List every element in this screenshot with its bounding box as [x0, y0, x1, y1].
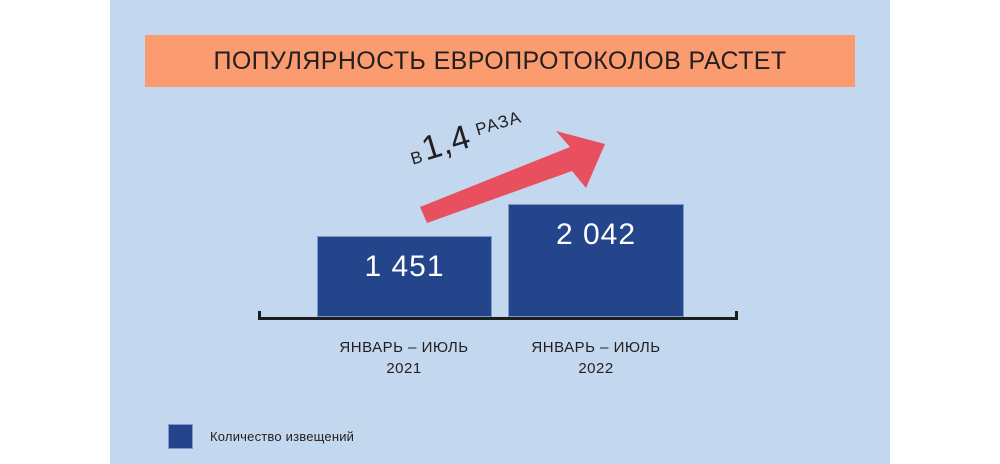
category-year-2022: 2022	[481, 358, 711, 379]
page-title: ПОПУЛЯРНОСТЬ ЕВРОПРОТОКОЛОВ РАСТЕТ	[213, 47, 786, 76]
chart-legend: Количество извещений	[168, 424, 354, 449]
bar-value-2021: 1 451	[364, 250, 444, 284]
title-banner: ПОПУЛЯРНОСТЬ ЕВРОПРОТОКОЛОВ РАСТЕТ	[145, 35, 855, 87]
bar-2021: 1 451	[317, 236, 492, 317]
annotation-suffix: РАЗА	[473, 107, 524, 140]
legend-label-notices: Количество извещений	[210, 429, 354, 444]
axis-line	[258, 317, 738, 320]
chart-axis	[258, 310, 738, 320]
category-period-2022: ЯНВАРЬ – ИЮЛЬ	[531, 339, 660, 356]
bar-value-2022: 2 042	[556, 218, 636, 252]
category-period-2021: ЯНВАРЬ – ИЮЛЬ	[339, 339, 468, 356]
legend-swatch-notices	[168, 424, 193, 449]
category-label-2022: ЯНВАРЬ – ИЮЛЬ 2022	[481, 337, 711, 379]
infographic-canvas: ПОПУЛЯРНОСТЬ ЕВРОПРОТОКОЛОВ РАСТЕТ В 1,4…	[0, 0, 1000, 464]
axis-tick-right	[735, 311, 738, 320]
bar-2022: 2 042	[508, 204, 684, 317]
